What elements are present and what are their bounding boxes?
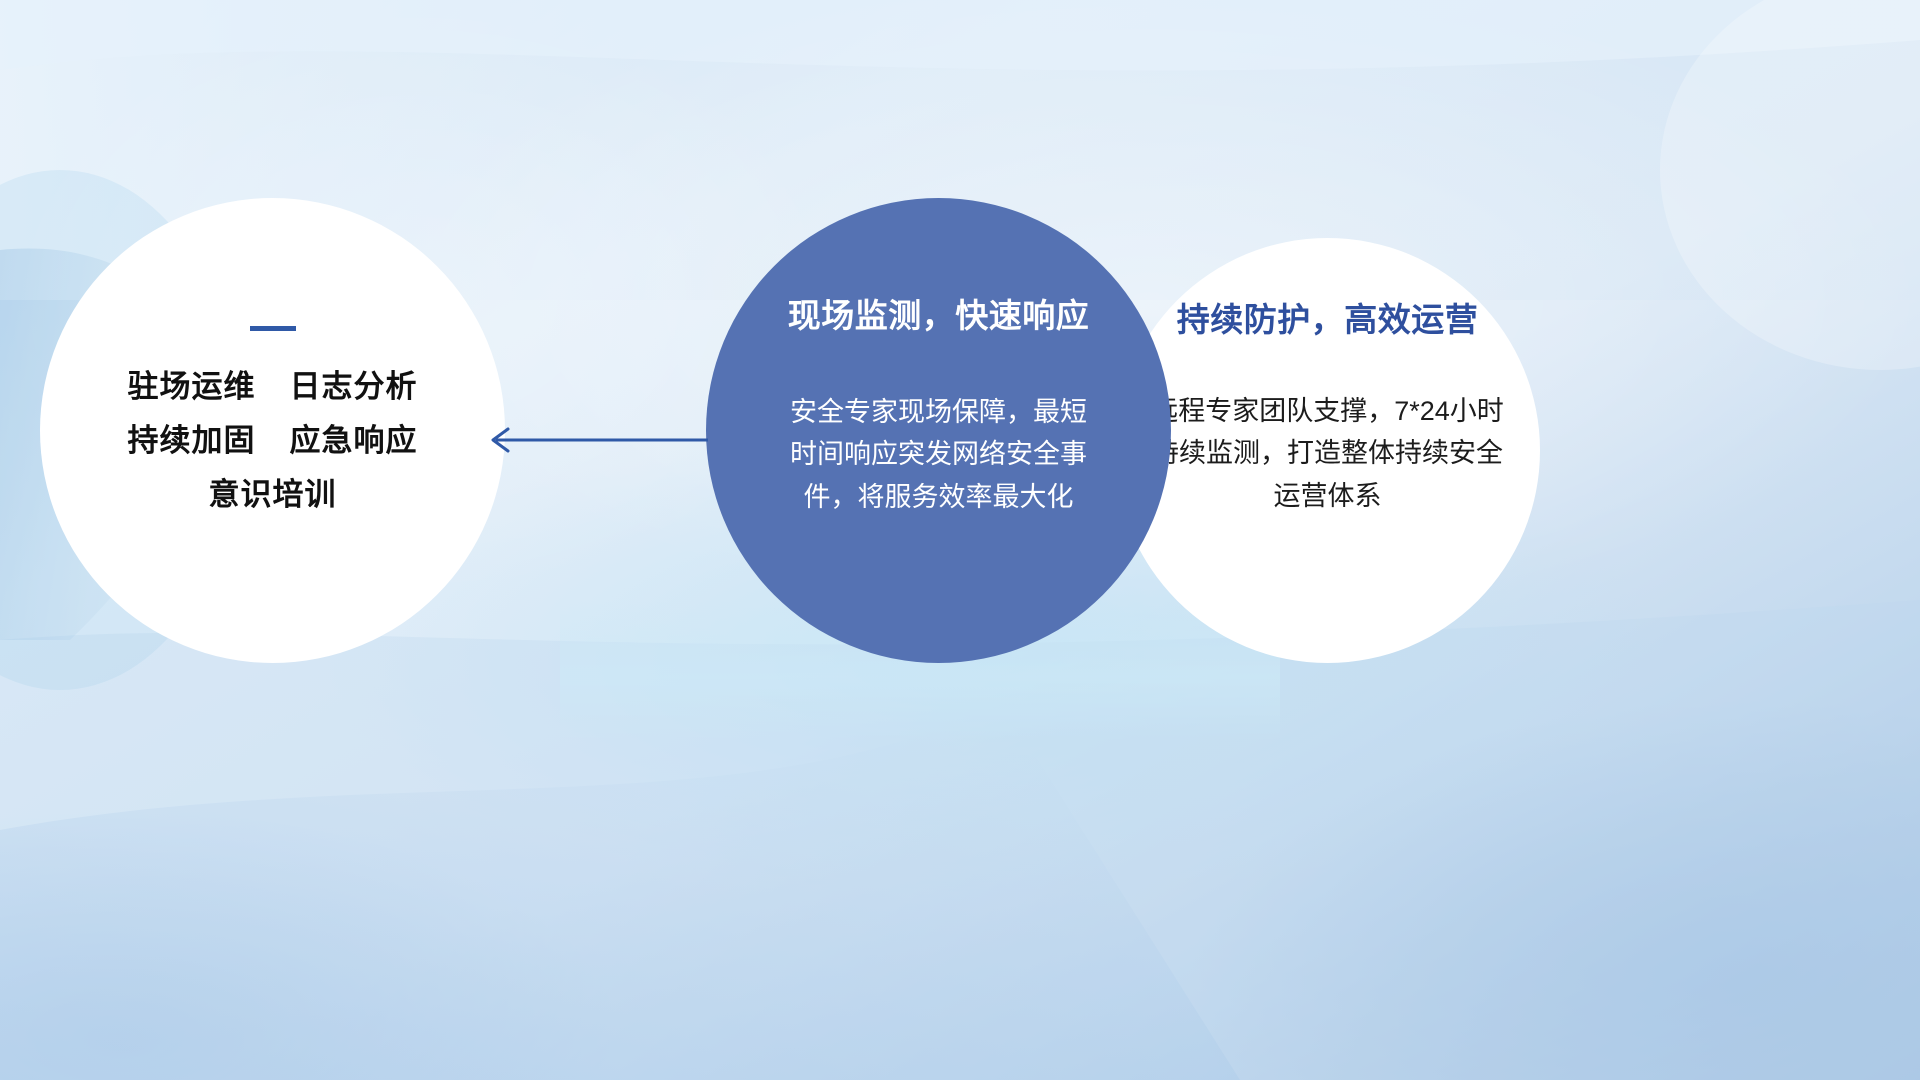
feature-circle-middle[interactable]: 现场监测，快速响应 安全专家现场保障，最短时间响应突发网络安全事件，将服务效率最… [706,198,1171,663]
capability-circle-left[interactable]: 驻场运维 日志分析 持续加固 应急响应 意识培训 [40,198,505,663]
capability-tag: 驻场运维 [128,371,256,402]
capability-tag-row: 意识培训 [128,479,418,510]
capability-tag: 日志分析 [290,371,418,402]
divider-dash [250,326,296,331]
feature-circle-right[interactable]: 持续防护，高效运营 远程专家团队支撑，7*24小时持续监测，打造整体持续安全运营… [1115,238,1540,663]
capability-tag: 意识培训 [209,479,337,510]
capability-tag-row: 驻场运维 日志分析 [128,371,418,402]
feature-title-right: 持续防护，高效运营 [1177,300,1479,340]
feature-body-right: 远程专家团队支撑，7*24小时持续监测，打造整体持续安全运营体系 [1143,390,1513,518]
diagram-stage: 驻场运维 日志分析 持续加固 应急响应 意识培训 持续防护，高效运营 远程专家团… [0,0,1920,1080]
feature-body-middle: 安全专家现场保障，最短时间响应突发网络安全事件，将服务效率最大化 [789,391,1089,519]
capability-tag-list: 驻场运维 日志分析 持续加固 应急响应 意识培训 [128,371,418,510]
flow-arrow-icon [480,418,710,462]
capability-tag: 应急响应 [290,425,418,456]
feature-title-middle: 现场监测，快速响应 [788,296,1090,336]
capability-tag-row: 持续加固 应急响应 [128,425,418,456]
capability-tag: 持续加固 [128,425,256,456]
